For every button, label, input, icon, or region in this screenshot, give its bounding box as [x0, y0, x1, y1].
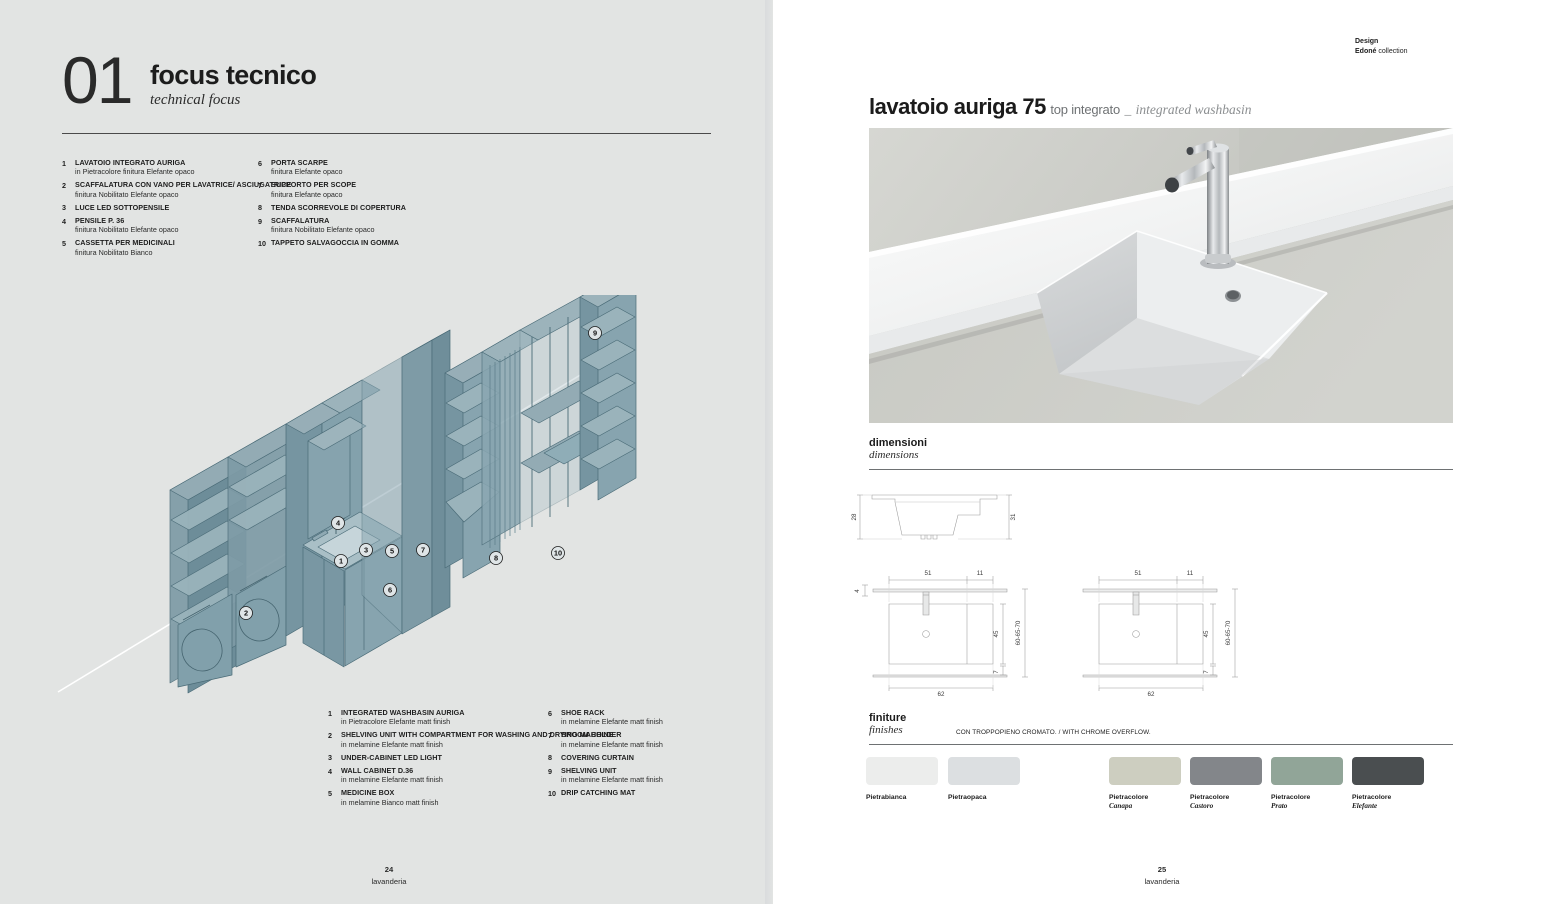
legend-item-description: in melamine Elefante matt finish: [561, 740, 663, 749]
legend-item-body: SHELVING UNITin melamine Elefante matt f…: [561, 766, 663, 785]
finish-variant: Elefante: [1352, 802, 1424, 811]
callout-label-7: 7: [421, 546, 425, 555]
legend-item-title: PENSILE P. 36: [75, 216, 179, 225]
chapter-header: 01 focus tecnico technical focus: [62, 50, 712, 110]
callout-label-6: 6: [388, 586, 392, 595]
legend-item-body: PORTA SCARPEfinitura Elefante opaco: [271, 158, 343, 177]
legend-item-body: SUPPORTO PER SCOPEfinitura Elefante opac…: [271, 180, 356, 199]
legend-item-body: SHOE RACKin melamine Elefante matt finis…: [561, 708, 663, 727]
legend-italian-column-1: 1LAVATOIO INTEGRATO AURIGAin Pietracolor…: [62, 158, 291, 261]
finish-swatch[interactable]: PietracoloreCastoro: [1190, 757, 1262, 812]
chapter-number: 01: [62, 50, 150, 110]
legend-item-title: LAVATOIO INTEGRATO AURIGA: [75, 158, 194, 167]
legend-english-column-2: 6SHOE RACKin melamine Elefante matt fini…: [548, 708, 663, 802]
finish-swatch[interactable]: Pietrabianca: [866, 757, 938, 802]
legend-item-description: in Pietracolore Elefante matt finish: [341, 717, 465, 726]
finish-label: PietracoloreElefante: [1352, 793, 1424, 812]
legend-item-body: UNDER-CABINET LED LIGHT: [341, 753, 442, 763]
callout-label-9: 9: [593, 329, 597, 338]
legend-item-title: BROOM HOLDER: [561, 730, 663, 739]
finish-color-chip[interactable]: [948, 757, 1020, 785]
dim-plan-top-left: 51: [925, 570, 932, 577]
callout-label-8: 8: [494, 554, 498, 563]
legend-item-description: finitura Nobilitato Elefante opaco: [75, 225, 179, 234]
legend-item-body: INTEGRATED WASHBASIN AURIGAin Pietracolo…: [341, 708, 465, 727]
legend-item-number: 9: [548, 766, 561, 785]
legend-item-title: WALL CABINET D.36: [341, 766, 443, 775]
legend-item-title: UNDER-CABINET LED LIGHT: [341, 753, 442, 762]
callout-label-10: 10: [554, 549, 562, 558]
legend-item: 8COVERING CURTAIN: [548, 753, 663, 763]
legend-item-body: LAVATOIO INTEGRATO AURIGAin Pietracolore…: [75, 158, 194, 177]
laundry-furniture-isometric: 12345678910: [50, 295, 650, 695]
legend-item-number: 6: [548, 708, 561, 727]
legend-item-number: 6: [258, 158, 271, 177]
design-credit: Design Edoné collection: [1355, 37, 1408, 56]
dimensions-title-it: dimensioni: [869, 437, 1453, 449]
dim-plan-left: 4: [854, 589, 861, 593]
finish-label: Pietraopaca: [948, 793, 1020, 802]
legend-item-number: 7: [258, 180, 271, 199]
finish-swatch[interactable]: Pietraopaca: [948, 757, 1020, 802]
legend-item-body: BROOM HOLDERin melamine Elefante matt fi…: [561, 730, 663, 749]
product-subtitle-it: top integrato: [1050, 102, 1120, 117]
finish-label: PietracoloreCastoro: [1190, 793, 1262, 812]
product-name: lavatoio auriga 75: [869, 94, 1046, 119]
legend-item: 10TAPPETO SALVAGOCCIA IN GOMMA: [258, 238, 406, 248]
dim-section-left: 28: [851, 513, 858, 520]
legend-item-title: MEDICINE BOX: [341, 788, 438, 797]
legend-item-number: 3: [328, 753, 341, 763]
legend-item-number: 2: [62, 180, 75, 199]
legend-item-number: 9: [258, 216, 271, 235]
callout-label-5: 5: [390, 547, 394, 556]
design-credit-line1: Design: [1355, 37, 1408, 47]
legend-item-title: SUPPORTO PER SCOPE: [271, 180, 356, 189]
finishes-note: CON TROPPOPIENO CROMATO. / WITH CHROME O…: [956, 729, 1151, 736]
legend-item-description: in melamine Elefante matt finish: [561, 775, 663, 784]
finish-label: PietracolorePrato: [1271, 793, 1343, 812]
legend-item-description: finitura Nobilitato Elefante opaco: [271, 225, 375, 234]
legend-item-description: in Pietracolore finitura Elefante opaco: [75, 167, 194, 176]
section-name: lavanderia: [345, 876, 433, 887]
legend-item-number: 10: [258, 238, 271, 248]
finish-color-chip[interactable]: [1190, 757, 1262, 785]
legend-item: 10DRIP CATCHING MAT: [548, 788, 663, 798]
legend-italian-column-2: 6PORTA SCARPEfinitura Elefante opaco7SUP…: [258, 158, 406, 252]
legend-item-number: 1: [328, 708, 341, 727]
dim-section-right: 31: [1010, 513, 1017, 520]
page-subtitle: technical focus: [150, 91, 316, 109]
legend-item-title: SCAFFALATURA: [271, 216, 375, 225]
design-credit-brand: Edoné: [1355, 48, 1376, 55]
legend-item-number: 4: [62, 216, 75, 235]
legend-item: 7SUPPORTO PER SCOPEfinitura Elefante opa…: [258, 180, 406, 199]
finishes-title-it: finiture: [869, 712, 1453, 724]
legend-item-number: 10: [548, 788, 561, 798]
page-title: focus tecnico: [150, 62, 316, 89]
legend-item-body: COVERING CURTAIN: [561, 753, 634, 763]
legend-item-body: MEDICINE BOXin melamine Bianco matt fini…: [341, 788, 438, 807]
product-subtitle-separator: _: [1124, 102, 1131, 117]
finish-label: Pietrabianca: [866, 793, 938, 802]
left-page: 01 focus tecnico technical focus 1LAVATO…: [0, 0, 773, 904]
dim-plan-width-2: 62: [1148, 691, 1155, 697]
dim-plan-bottom-gap: 7: [993, 670, 1000, 674]
legend-item: 8TENDA SCORREVOLE DI COPERTURA: [258, 203, 406, 213]
legend-item-number: 8: [548, 753, 561, 763]
finish-color-chip[interactable]: [1352, 757, 1424, 785]
washbasin-photo: [869, 128, 1453, 423]
finish-variant: Prato: [1271, 802, 1343, 811]
legend-item-number: 2: [328, 730, 341, 749]
legend-item-body: TENDA SCORREVOLE DI COPERTURA: [271, 203, 406, 213]
legend-item-description: finitura Elefante opaco: [271, 190, 356, 199]
legend-item-body: DRIP CATCHING MAT: [561, 788, 635, 798]
folio-left: 24 lavanderia: [345, 864, 433, 887]
legend-item-title: INTEGRATED WASHBASIN AURIGA: [341, 708, 465, 717]
dimensions-title-en: dimensions: [869, 449, 1453, 462]
legend-item-title: LUCE LED SOTTOPENSILE: [75, 203, 169, 212]
product-title: lavatoio auriga 75 top integrato _ integ…: [869, 94, 1469, 120]
legend-item-body: WALL CABINET D.36in melamine Elefante ma…: [341, 766, 443, 785]
dim-plan-bottom-gap-2: 7: [1203, 670, 1210, 674]
dim-plan-inner-height: 45: [993, 630, 1000, 637]
finish-color-chip[interactable]: [1271, 757, 1343, 785]
section-name: lavanderia: [1118, 876, 1206, 887]
legend-item: 7BROOM HOLDERin melamine Elefante matt f…: [548, 730, 663, 749]
legend-item: 2SCAFFALATURA CON VANO PER LAVATRICE/ AS…: [62, 180, 291, 199]
legend-item-number: 5: [328, 788, 341, 807]
legend-item-title: CASSETTA PER MEDICINALI: [75, 238, 175, 247]
legend-item: 6SHOE RACKin melamine Elefante matt fini…: [548, 708, 663, 727]
finish-swatch-list: PietrabiancaPietraopacaPietracoloreCanap…: [866, 757, 1466, 817]
finish-variant: Castoro: [1190, 802, 1262, 811]
legend-item-body: PENSILE P. 36finitura Nobilitato Elefant…: [75, 216, 179, 235]
legend-item-title: SHELVING UNIT: [561, 766, 663, 775]
legend-item: 6PORTA SCARPEfinitura Elefante opaco: [258, 158, 406, 177]
legend-item-number: 7: [548, 730, 561, 749]
legend-item-number: 8: [258, 203, 271, 213]
legend-item-body: SCAFFALATURAfinitura Nobilitato Elefante…: [271, 216, 375, 235]
page-number: 24: [345, 864, 433, 875]
finish-color-chip[interactable]: [866, 757, 938, 785]
finish-swatch[interactable]: PietracolorePrato: [1271, 757, 1343, 812]
finish-color-chip[interactable]: [1109, 757, 1181, 785]
legend-item: 1LAVATOIO INTEGRATO AURIGAin Pietracolor…: [62, 158, 291, 177]
dim-plan-depth-options-2: 60-65-70: [1225, 620, 1232, 645]
legend-item-title: TENDA SCORREVOLE DI COPERTURA: [271, 203, 406, 212]
legend-item-description: in melamine Elefante matt finish: [341, 775, 443, 784]
legend-item-body: TAPPETO SALVAGOCCIA IN GOMMA: [271, 238, 399, 248]
legend-item-body: CASSETTA PER MEDICINALIfinitura Nobilita…: [75, 238, 175, 257]
finishes-section-header: finiture finishes CON TROPPOPIENO CROMAT…: [869, 712, 1453, 745]
legend-item-title: TAPPETO SALVAGOCCIA IN GOMMA: [271, 238, 399, 247]
legend-item-number: 5: [62, 238, 75, 257]
legend-item-number: 1: [62, 158, 75, 177]
legend-item-number: 4: [328, 766, 341, 785]
legend-item: 3LUCE LED SOTTOPENSILE: [62, 203, 291, 213]
legend-item: 9SHELVING UNITin melamine Elefante matt …: [548, 766, 663, 785]
dim-plan-inner-height-2: 45: [1203, 630, 1210, 637]
spread-gutter: [765, 0, 773, 904]
legend-item-title: PORTA SCARPE: [271, 158, 343, 167]
legend-item: 4PENSILE P. 36finitura Nobilitato Elefan…: [62, 216, 291, 235]
finish-label: PietracoloreCanapa: [1109, 793, 1181, 812]
finish-swatch[interactable]: PietracoloreCanapa: [1109, 757, 1181, 812]
legend-item-number: 3: [62, 203, 75, 213]
design-credit-suffix: collection: [1376, 48, 1407, 55]
callout-label-3: 3: [364, 546, 368, 555]
legend-item: 9SCAFFALATURAfinitura Nobilitato Elefant…: [258, 216, 406, 235]
header-divider: [62, 133, 711, 134]
dimension-drawings: 28 31 51 11 4 45 7 60-65-70 62 51 11 45 …: [845, 482, 1465, 697]
dim-plan-top-right-2: 11: [1187, 570, 1194, 577]
callout-label-2: 2: [244, 609, 248, 618]
finish-variant: Canapa: [1109, 802, 1181, 811]
product-subtitle-en: integrated washbasin: [1136, 102, 1252, 117]
dim-plan-top-right: 11: [977, 570, 984, 577]
dimensions-section-header: dimensioni dimensions: [869, 437, 1453, 470]
dim-plan-depth-options: 60-65-70: [1015, 620, 1022, 645]
callout-label-1: 1: [339, 557, 343, 566]
legend-item-title: DRIP CATCHING MAT: [561, 788, 635, 797]
legend-item-title: SHOE RACK: [561, 708, 663, 717]
dimensions-divider: [869, 469, 1453, 470]
legend-item: 5CASSETTA PER MEDICINALIfinitura Nobilit…: [62, 238, 291, 257]
dim-plan-width: 62: [938, 691, 945, 697]
finishes-divider: [869, 744, 1453, 745]
legend-item-title: COVERING CURTAIN: [561, 753, 634, 762]
dim-plan-top-left-2: 51: [1135, 570, 1142, 577]
legend-item-body: LUCE LED SOTTOPENSILE: [75, 203, 169, 213]
legend-item-description: in melamine Elefante matt finish: [561, 717, 663, 726]
legend-item-description: finitura Nobilitato Bianco: [75, 248, 175, 257]
folio-right: 25 lavanderia: [1118, 864, 1206, 887]
legend-item-description: finitura Elefante opaco: [271, 167, 343, 176]
page-number: 25: [1118, 864, 1206, 875]
finish-swatch[interactable]: PietracoloreElefante: [1352, 757, 1424, 812]
legend-item-description: in melamine Bianco matt finish: [341, 798, 438, 807]
